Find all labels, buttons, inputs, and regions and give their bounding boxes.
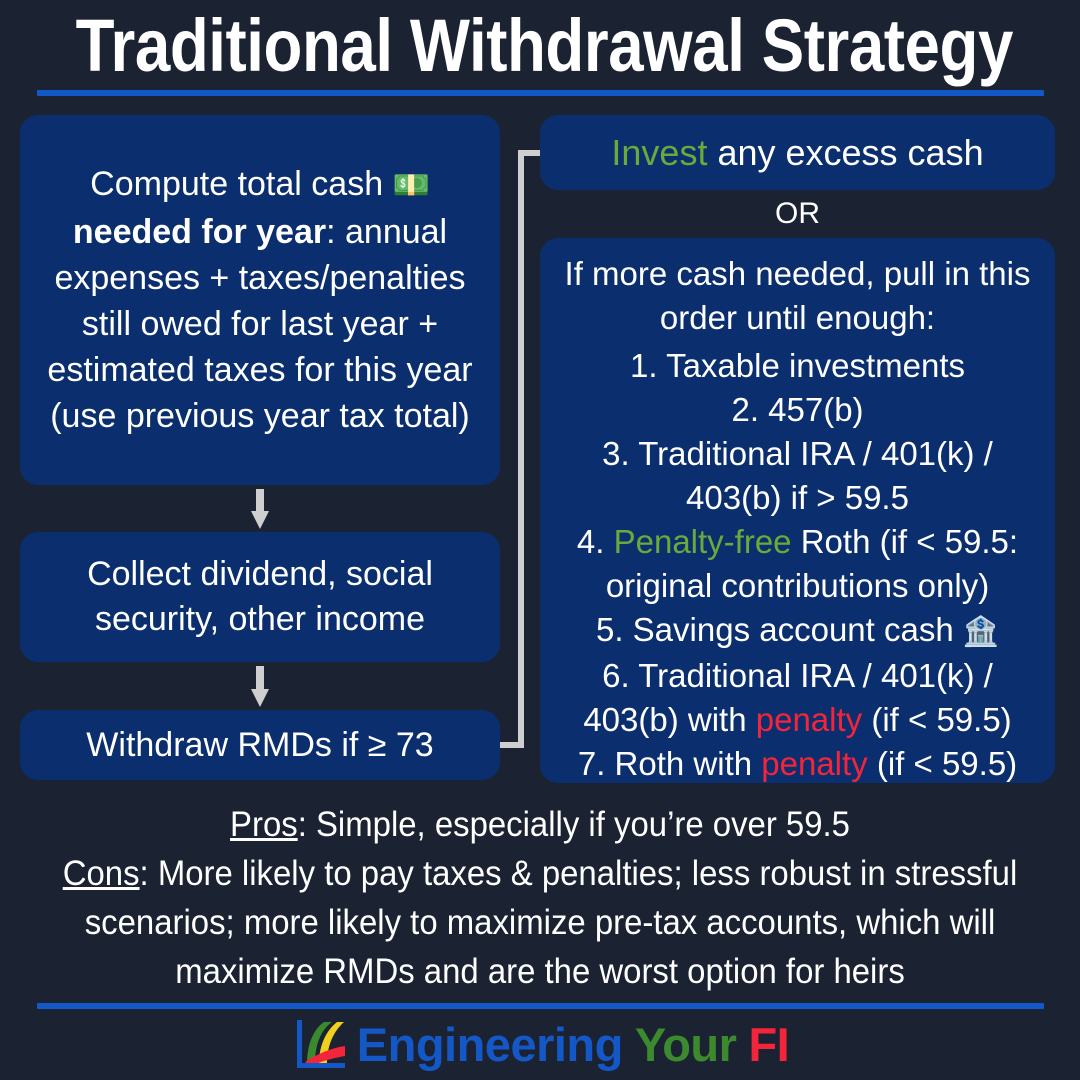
list-item: Taxable investments [554,344,1041,388]
flow-box-withdraw-rmds: Withdraw RMDs if ≥ 73 [20,710,500,780]
footer-divider [37,1003,1044,1009]
pros-label: Pros [230,805,298,844]
cons-label: Cons [63,854,140,893]
brand-wordmark: EngineeringYourFI [357,1020,789,1070]
brand-footer[interactable]: EngineeringYourFI [0,1018,1080,1072]
pros-text: : Simple, especially if you’re over 59.5 [298,805,850,844]
withdraw-rmds-text: Withdraw RMDs if ≥ 73 [20,723,500,768]
list-item: Savings account cash 🏦 [554,608,1041,654]
invest-highlight: Invest [611,132,707,173]
flow-box-compute-cash: Compute total cash 💵 needed for year: an… [20,115,500,485]
list-item: Penalty-free Roth (if < 59.5: original c… [554,520,1041,608]
arrow-down-icon-1 [251,489,269,529]
money-icon: 💵 [393,169,430,202]
list-item: Traditional IRA / 401(k) / 403(b) with p… [554,654,1041,742]
header: Traditional Withdrawal Strategy [0,0,1080,96]
withdrawal-order-list: Taxable investments 457(b) Traditional I… [554,344,1041,786]
page-title: Traditional Withdrawal Strategy [76,4,1005,88]
compute-cash-bold-tail: needed for year [73,213,326,251]
or-separator-label: OR [540,195,1055,233]
summary-section: Pros: Simple, especially if you’re over … [18,800,1062,996]
compute-cash-bold-lead: Compute total cash [90,165,383,203]
withdrawal-order-heading: If more cash needed, pull in this order … [554,252,1041,340]
flow-box-invest-excess: Invest any excess cash [540,115,1055,190]
brand-word-engineering: Engineering [357,1018,623,1071]
bank-icon: 🏦 [963,616,999,648]
pros-line: Pros: Simple, especially if you’re over … [49,800,1030,849]
brand-word-your: Your [635,1018,737,1071]
cons-line: Cons: More likely to pay taxes & penalti… [49,849,1030,996]
header-divider [37,90,1044,96]
list-item: Traditional IRA / 401(k) / 403(b) if > 5… [554,432,1041,520]
arrow-down-icon-2 [251,666,269,707]
flow-box-withdrawal-order: If more cash needed, pull in this order … [540,238,1055,783]
flow-box-collect-income: Collect dividend, social security, other… [20,532,500,662]
invest-rest: any excess cash [707,132,983,173]
engineering-your-fi-logo-icon [291,1018,347,1072]
cons-text: : More likely to pay taxes & penalties; … [85,854,1018,991]
list-item: Roth with penalty (if < 59.5) [554,742,1041,786]
list-item: 457(b) [554,388,1041,432]
brand-word-fi: FI [748,1018,789,1071]
collect-income-text: Collect dividend, social security, other… [20,552,500,642]
